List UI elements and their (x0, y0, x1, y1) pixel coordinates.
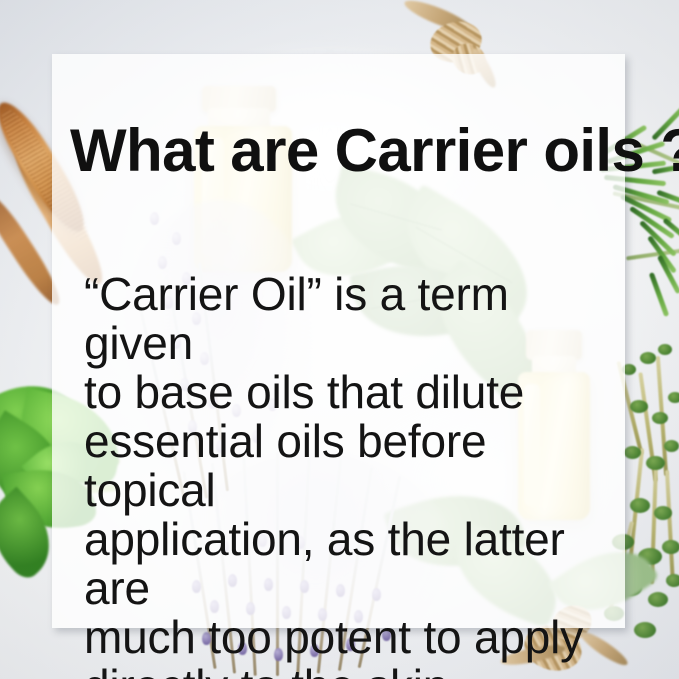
body-line: application, as the latter are (84, 515, 614, 613)
body-line: to base oils that dilute (84, 368, 614, 417)
body-line: directly to the skin. (84, 662, 614, 679)
page-title: What are Carrier oils ? (70, 121, 679, 181)
image-canvas: What are Carrier oils ? “Carrier Oil” is… (0, 0, 679, 679)
body-copy: “Carrier Oil” is a term given to base oi… (84, 270, 614, 679)
body-line: “Carrier Oil” is a term given (84, 270, 614, 368)
body-line: essential oils before topical (84, 417, 614, 515)
body-line: much too potent to apply (84, 613, 614, 662)
